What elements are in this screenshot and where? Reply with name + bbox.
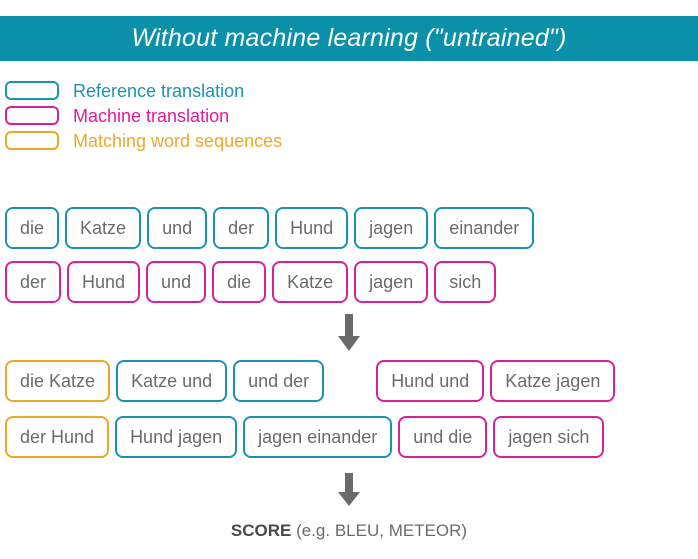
page-title: Without machine learning ("untrained") xyxy=(131,24,566,53)
token-word: einander xyxy=(434,207,534,249)
ngram-chip: jagen sich xyxy=(493,416,604,458)
token-word: Katze xyxy=(65,207,141,249)
legend-swatch-reference-icon xyxy=(5,81,59,100)
machine-translation-row: der Hund und die Katze jagen sich xyxy=(5,261,502,303)
token-word: der xyxy=(5,261,61,303)
ngram-chip: Hund und xyxy=(376,360,484,402)
token-word: Hund xyxy=(275,207,348,249)
ngram-chip: der Hund xyxy=(5,416,109,458)
ngram-chip: die Katze xyxy=(5,360,110,402)
header-banner: Without machine learning ("untrained") xyxy=(0,16,698,61)
score-caption: SCORE (e.g. BLEU, METEOR) xyxy=(0,521,698,541)
legend-label-machine: Machine translation xyxy=(73,107,229,125)
ngram-chip: Hund jagen xyxy=(115,416,237,458)
legend-label-reference: Reference translation xyxy=(73,82,244,100)
reference-translation-row: die Katze und der Hund jagen einander xyxy=(5,207,540,249)
ngram-chip: und der xyxy=(233,360,324,402)
legend-item-reference: Reference translation xyxy=(5,78,485,103)
token-word: jagen xyxy=(354,261,428,303)
score-label: SCORE xyxy=(231,521,291,540)
token-word: die xyxy=(212,261,266,303)
token-word: und xyxy=(147,207,207,249)
ngram-row-machine: der Hund Hund jagen jagen einander und d… xyxy=(5,416,610,458)
legend-swatch-matching-icon xyxy=(5,131,59,150)
token-word: Hund xyxy=(67,261,140,303)
score-detail: (e.g. BLEU, METEOR) xyxy=(291,521,467,540)
token-word: jagen xyxy=(354,207,428,249)
ngram-chip: Katze jagen xyxy=(490,360,615,402)
down-arrow-icon xyxy=(337,314,361,357)
ngram-chip: Katze und xyxy=(116,360,227,402)
token-word: sich xyxy=(434,261,496,303)
legend-item-machine: Machine translation xyxy=(5,103,485,128)
token-word: Katze xyxy=(272,261,348,303)
token-word: der xyxy=(213,207,269,249)
token-word: die xyxy=(5,207,59,249)
token-word: und xyxy=(146,261,206,303)
legend-item-matching: Matching word sequences xyxy=(5,128,485,153)
ngram-chip: jagen einander xyxy=(243,416,392,458)
down-arrow-icon xyxy=(337,473,361,512)
legend: Reference translation Machine translatio… xyxy=(5,78,485,153)
ngram-chip: und die xyxy=(398,416,487,458)
legend-label-matching: Matching word sequences xyxy=(73,132,282,150)
ngram-row-reference: die Katze Katze und und der Hund und Kat… xyxy=(5,360,621,402)
legend-swatch-machine-icon xyxy=(5,106,59,125)
